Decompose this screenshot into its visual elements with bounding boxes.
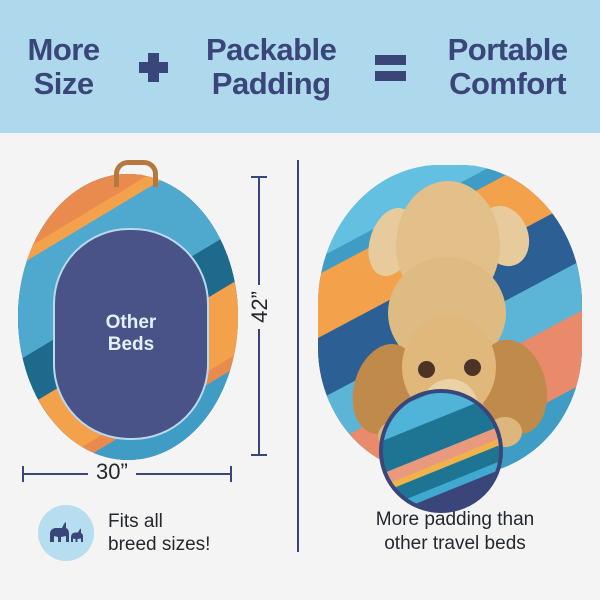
left-product-illustration: Other Beds xyxy=(18,160,238,460)
width-dimension-cap-right xyxy=(230,466,232,482)
height-dimension-label: 42” xyxy=(243,285,277,329)
height-dimension-cap-bottom xyxy=(251,454,267,456)
two-dogs-icon xyxy=(38,505,94,561)
plus-icon xyxy=(127,47,179,87)
equals-icon-bar-bottom xyxy=(375,71,406,81)
plus-icon-bar-vertical xyxy=(148,53,159,82)
padding-detail-inset xyxy=(379,389,503,513)
headline-term-packable-padding: Packable Padding xyxy=(179,33,364,100)
equals-icon-bar-top xyxy=(375,55,406,65)
panel-divider xyxy=(297,160,299,552)
other-beds-label: Other Beds xyxy=(106,312,157,357)
headline-term-portable-comfort: Portable Comfort xyxy=(415,33,600,100)
height-dimension-cap-top xyxy=(251,176,267,178)
more-padding-label: More padding than other travel beds xyxy=(330,508,580,556)
headline-term-more-size: More Size xyxy=(0,33,127,100)
width-dimension-cap-left xyxy=(22,466,24,482)
dog-eye-left xyxy=(418,361,435,378)
other-beds-size-overlay: Other Beds xyxy=(53,228,209,440)
header-equation: More Size Packable Padding Portable Comf… xyxy=(0,0,600,133)
carry-handle-icon xyxy=(114,160,158,187)
dog-eye-right xyxy=(464,359,481,376)
equals-icon xyxy=(364,47,416,87)
fits-all-breeds-label: Fits all breed sizes! xyxy=(108,510,210,556)
infographic-canvas: More Size Packable Padding Portable Comf… xyxy=(0,0,600,600)
fits-all-breeds-callout: Fits all breed sizes! xyxy=(38,505,210,561)
width-dimension-label: 30” xyxy=(88,459,136,485)
